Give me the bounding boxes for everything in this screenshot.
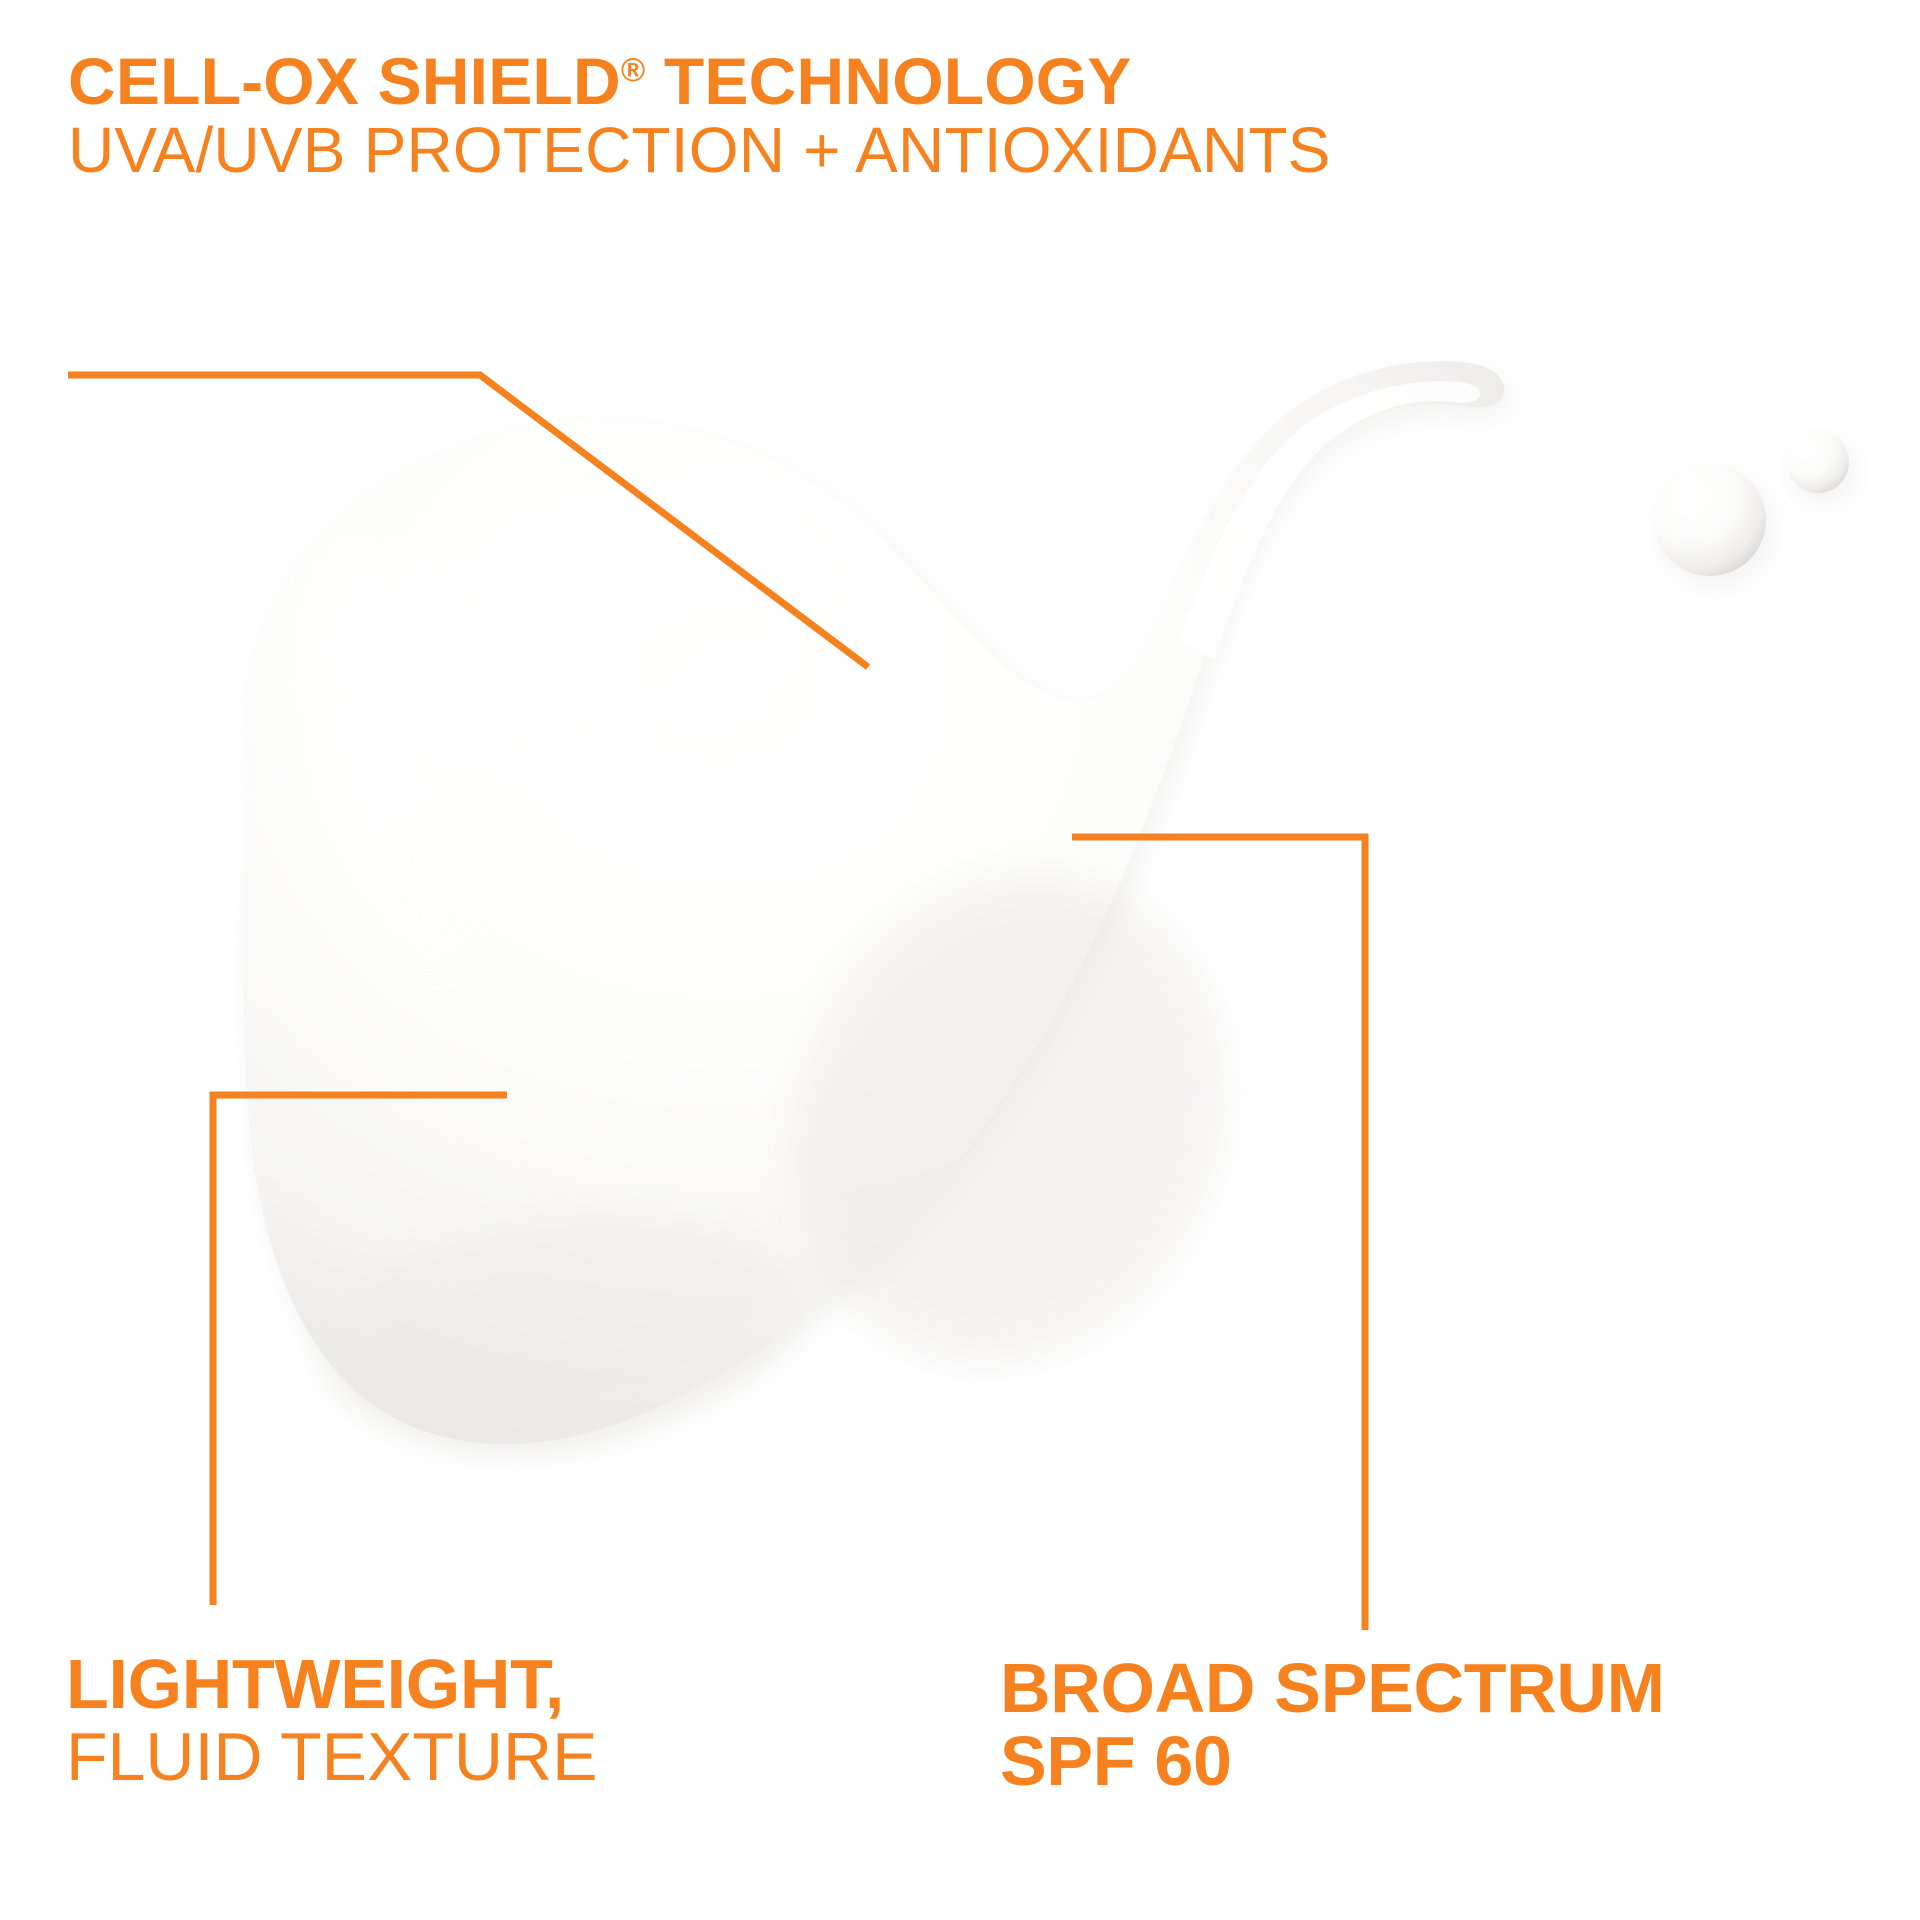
leader-line-lightweight	[213, 1095, 507, 1605]
callout-lightweight-line1: LIGHTWEIGHT,	[66, 1648, 597, 1721]
page-subtitle: UVA/UVB PROTECTION + ANTIOXIDANTS	[68, 115, 1868, 187]
registered-trademark-icon: ®	[621, 51, 646, 88]
droplet-small	[1787, 431, 1849, 493]
product-feature-graphic: CELL-OX SHIELD® TECHNOLOGY UVA/UVB PROTE…	[0, 0, 1920, 1920]
callout-spf-line1: BROAD SPECTRUM	[1000, 1652, 1665, 1725]
callout-label-broad-spectrum: BROAD SPECTRUM SPF 60	[1000, 1652, 1665, 1798]
callout-lightweight-line2: FLUID TEXTURE	[66, 1721, 597, 1793]
callout-spf-line2: SPF 60	[1000, 1725, 1665, 1798]
leader-line-broad-spectrum	[1072, 837, 1365, 1630]
title-main-text: CELL-OX SHIELD	[68, 44, 621, 118]
droplet-large	[1654, 464, 1766, 576]
page-title: CELL-OX SHIELD® TECHNOLOGY	[68, 48, 1868, 115]
leader-line-technology	[68, 375, 868, 667]
cream-swatch-artwork	[0, 0, 1920, 1920]
headline-block: CELL-OX SHIELD® TECHNOLOGY UVA/UVB PROTE…	[68, 48, 1868, 187]
callout-label-lightweight: LIGHTWEIGHT, FLUID TEXTURE	[66, 1648, 597, 1793]
title-main-tail: TECHNOLOGY	[645, 44, 1131, 118]
cream-blob	[244, 361, 1504, 1444]
